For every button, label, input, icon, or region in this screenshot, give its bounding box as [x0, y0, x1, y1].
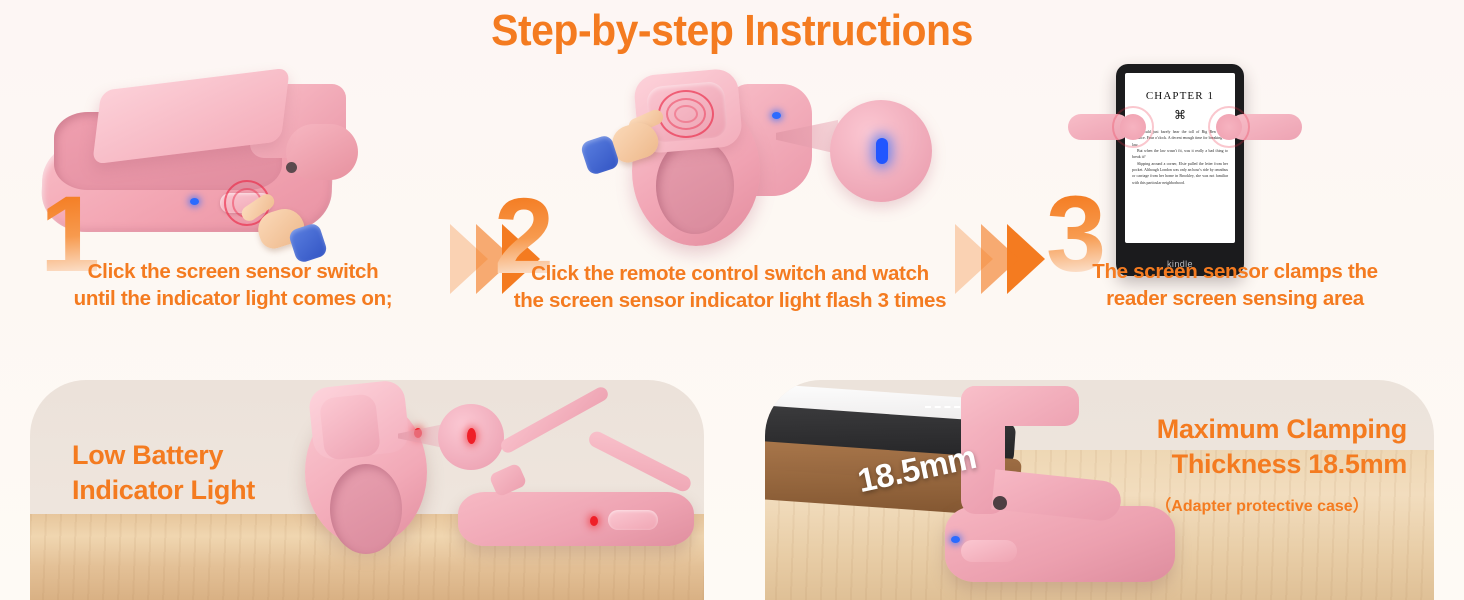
step-1-caption-line1: Click the screen sensor switch	[18, 258, 448, 285]
sensing-ripple-icon	[1208, 106, 1250, 148]
clamp-nose	[286, 124, 358, 180]
clamp-pivot-screw	[993, 496, 1007, 510]
magnified-led-blue-icon	[876, 138, 888, 164]
sensing-ripple-icon	[1112, 106, 1154, 148]
step-1-caption: Click the screen sensor switch until the…	[18, 258, 448, 312]
step-1: 1 Click the screen sensor switch until t…	[18, 62, 448, 372]
step-2-caption-line1: Click the remote control switch and watc…	[480, 260, 980, 287]
step-2-caption: Click the remote control switch and watc…	[480, 260, 980, 314]
max-thickness-heading: Maximum Clamping Thickness 18.5mm	[1117, 412, 1407, 481]
steps-row: 1 Click the screen sensor switch until t…	[0, 62, 1464, 372]
low-battery-heading-line1: Low Battery	[72, 438, 255, 473]
led-magnifier-callout	[830, 100, 932, 202]
e-reader-screen: CHAPTER 1 ⌘ Elsie could just barely hear…	[1125, 73, 1235, 243]
remote-ring-hole	[656, 138, 734, 234]
remote-switch-button[interactable]	[319, 393, 381, 461]
clamp-switch-button[interactable]	[961, 540, 1017, 562]
step-3-caption-line2: reader screen sensing area	[1020, 285, 1450, 312]
max-thickness-heading-line2: Thickness 18.5mm	[1117, 447, 1407, 482]
page-title: Step-by-step Instructions	[51, 6, 1413, 56]
book-paragraph: Slipping around a corner, Elsie pulled t…	[1132, 161, 1228, 186]
power-led-blue-icon	[190, 198, 199, 205]
e-reader-device: CHAPTER 1 ⌘ Elsie could just barely hear…	[1116, 64, 1244, 276]
clamp-pivot-screw	[286, 162, 297, 173]
step-1-caption-line2: until the indicator light comes on;	[18, 285, 448, 312]
magnified-led-red-icon	[467, 428, 476, 444]
remote-led-blue-icon	[772, 112, 781, 119]
infographic-root: Step-by-step Instructions	[0, 0, 1464, 600]
book-paragraph: But when the law wasn't fit, was it real…	[1132, 148, 1228, 161]
step-3-caption: The screen sensor clamps the reader scre…	[1020, 258, 1450, 312]
panel-low-battery: Low Battery Indicator Light	[30, 380, 704, 600]
step-2: 2 Click the remote control switch and wa…	[480, 62, 980, 372]
low-battery-heading-line2: Indicator Light	[72, 473, 255, 508]
clamp-top-jaw	[961, 386, 1079, 426]
clamp-stand-arm-upper	[586, 429, 693, 494]
max-thickness-subnote: （Adapter protective case）	[1117, 492, 1407, 516]
remote-ring-hole	[330, 464, 402, 554]
low-battery-heading: Low Battery Indicator Light	[72, 438, 255, 507]
clamp-switch-button[interactable]	[608, 510, 658, 530]
clamp-power-led-blue-icon	[951, 536, 960, 543]
clamp-low-battery-led-red-icon	[590, 516, 598, 526]
tap-ripple-icon	[674, 105, 698, 123]
max-thickness-heading-line1: Maximum Clamping	[1117, 412, 1407, 447]
step-3: CHAPTER 1 ⌘ Elsie could just barely hear…	[1020, 62, 1450, 372]
panel-max-thickness: 18.5mm Maximum Clamping Thickness 18.5mm…	[765, 380, 1434, 600]
chapter-title: CHAPTER 1	[1132, 90, 1228, 102]
clamp-stand-base	[458, 492, 694, 546]
step-2-caption-line2: the screen sensor indicator light flash …	[480, 287, 980, 314]
step-3-caption-line1: The screen sensor clamps the	[1020, 258, 1450, 285]
chevron-right-icon	[981, 224, 1019, 294]
